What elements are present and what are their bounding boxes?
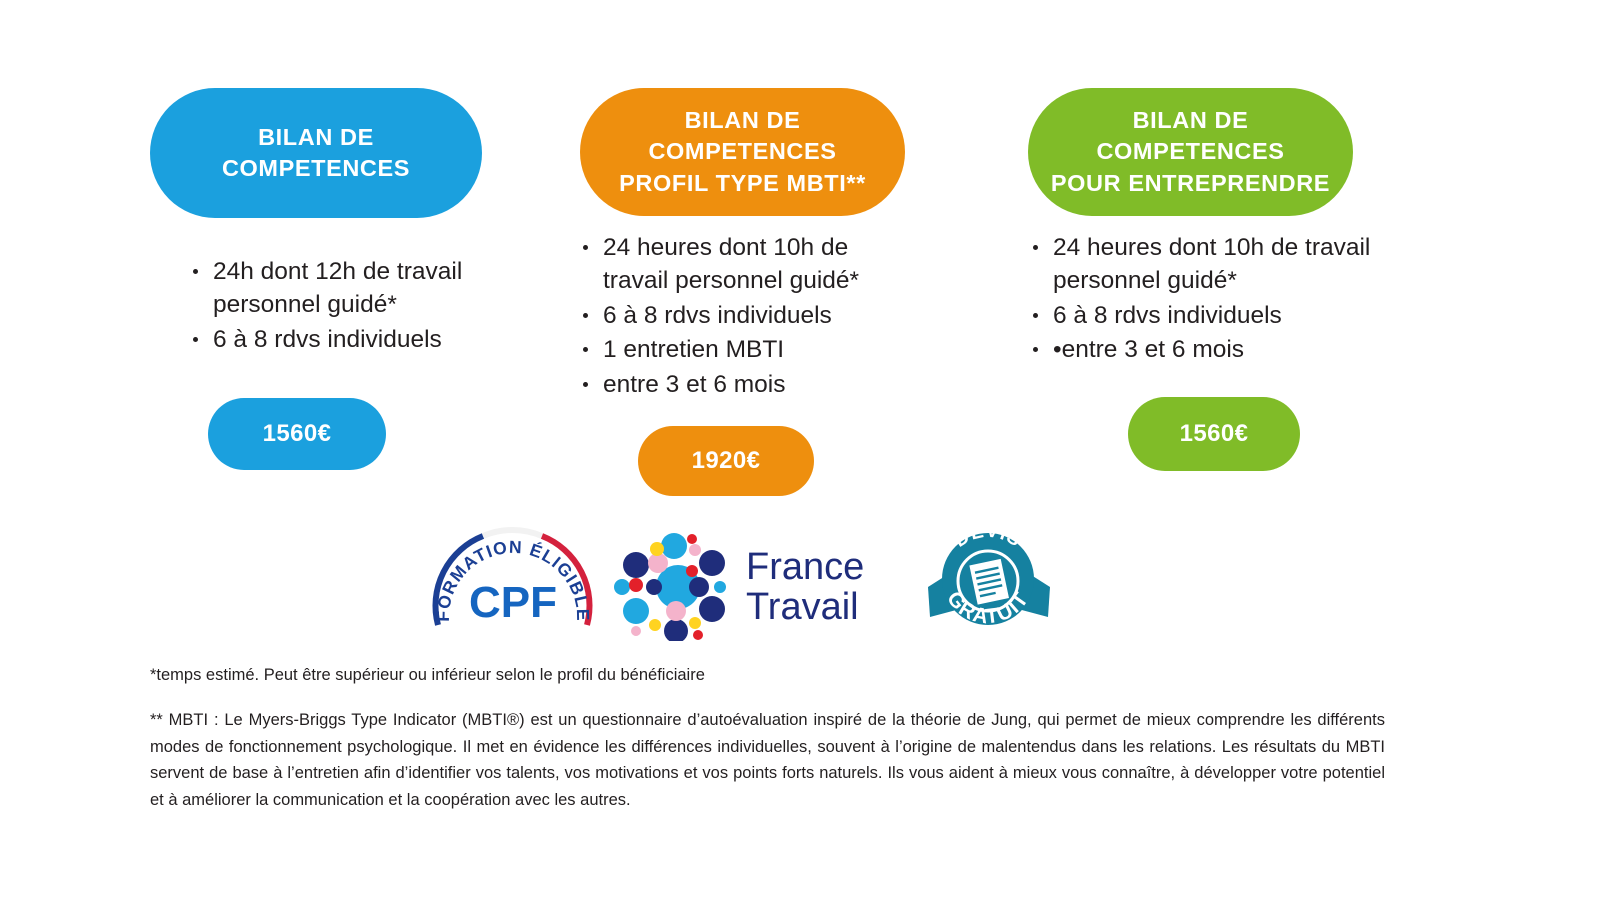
list-item: 6 à 8 rdvs individuels [185,324,485,357]
list-item: •entre 3 et 6 mois [1025,334,1375,367]
svg-text:France: France [746,546,864,588]
feature-list-2: 24 heures dont 10h de travail personnel … [575,232,920,402]
card-header-pill-1: BILAN DE COMPETENCES [150,88,482,218]
card-title-3: BILAN DE COMPETENCES POUR ENTREPRENDRE [1028,105,1353,198]
card-title-1-line-1: BILAN DE COMPETENCES [172,122,460,184]
card-title-2: BILAN DE COMPETENCES PROFIL TYPE MBTI** [580,105,905,198]
devis-gratuit-icon: DEVIS GRATUIT [920,513,1070,641]
list-item: 6 à 8 rdvs individuels [1025,300,1375,333]
pricing-card-profil-type-mbti: BILAN DE COMPETENCES PROFIL TYPE MBTI** … [570,88,1010,496]
list-item: 24 heures dont 10h de travail personnel … [575,232,920,298]
price-badge-3[interactable]: 1560€ [1128,397,1300,471]
card-title-2-line-1: BILAN DE COMPETENCES [602,105,883,167]
feature-list-1: 24h dont 12h de travail personnel guidé*… [185,256,485,356]
card-title-3-line-1: BILAN DE COMPETENCES [1050,105,1331,167]
pricing-card-bilan-de-competences: BILAN DE COMPETENCES 24h dont 12h de tra… [150,88,570,470]
card-header-pill-3: BILAN DE COMPETENCES POUR ENTREPRENDRE [1028,88,1353,216]
pricing-card-pour-entreprendre: BILAN DE COMPETENCES POUR ENTREPRENDRE 2… [1010,88,1450,471]
list-item: 6 à 8 rdvs individuels [575,300,920,333]
card-title-2-line-2: PROFIL TYPE MBTI** [602,168,883,199]
cpf-eligible-icon: FORMATION ÉLIGIBLE CPF [425,513,600,641]
feature-list-3: 24 heures dont 10h de travail personnel … [1025,232,1375,367]
card-title-1: BILAN DE COMPETENCES [150,122,482,184]
pricing-cards-row: BILAN DE COMPETENCES 24h dont 12h de tra… [150,88,1450,496]
card-header-pill-2: BILAN DE COMPETENCES PROFIL TYPE MBTI** [580,88,905,216]
pricing-sheet: BILAN DE COMPETENCES 24h dont 12h de tra… [0,0,1600,900]
list-item: entre 3 et 6 mois [575,369,920,402]
price-badge-1[interactable]: 1560€ [208,398,386,470]
price-badge-2[interactable]: 1920€ [638,426,814,496]
list-item: 24 heures dont 10h de travail personnel … [1025,232,1375,298]
list-item: 24h dont 12h de travail personnel guidé* [185,256,485,322]
card-title-3-line-2: POUR ENTREPRENDRE [1050,168,1331,199]
certification-logos: FORMATION ÉLIGIBLE CPF [425,512,1125,642]
france-travail-icon: France Travail [600,513,870,641]
list-item: 1 entretien MBTI [575,334,920,367]
footnote-mbti-explanation: ** MBTI : Le Myers-Briggs Type Indicator… [150,707,1385,814]
svg-text:CPF: CPF [469,578,557,627]
footnote-estimate: *temps estimé. Peut être supérieur ou in… [150,664,705,687]
svg-text:Travail: Travail [746,586,859,628]
